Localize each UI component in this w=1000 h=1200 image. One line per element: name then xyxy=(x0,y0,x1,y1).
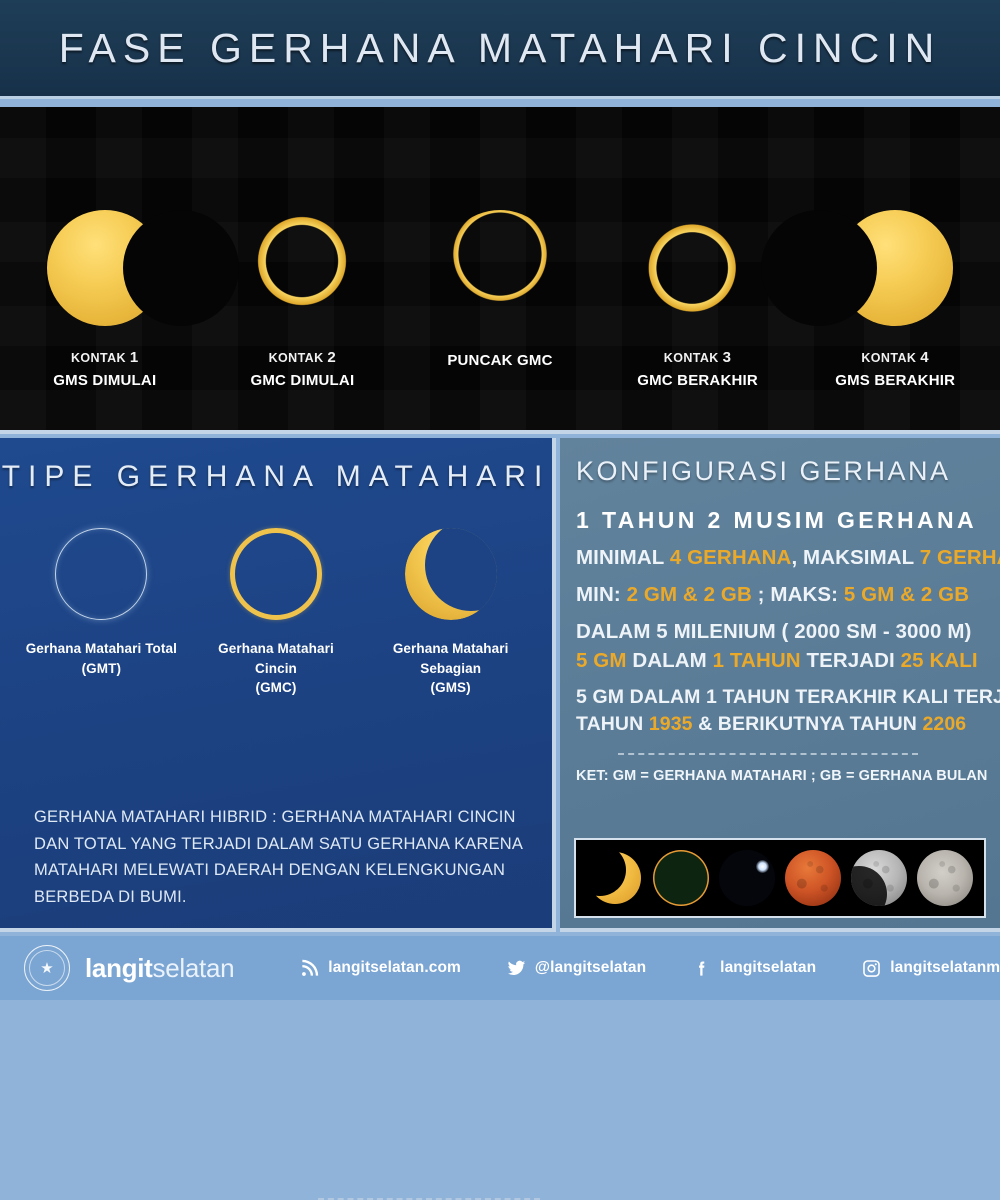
phase-name-4: GMC BERAKHIR xyxy=(637,371,758,391)
type-item-gmc: Gerhana Matahari Cincin (GMC) xyxy=(196,528,356,698)
maks-value: 5 GM & 2 GB xyxy=(844,583,969,606)
min-value: 2 GM & 2 GB xyxy=(627,583,752,606)
eclipse-types-title: TIPE GERHANA MATAHARI xyxy=(0,460,552,494)
line-minimal-maksimal: MINIMAL 4 GERHANA, MAKSIMAL 7 GERHANA xyxy=(576,545,986,571)
ring-even-icon xyxy=(442,210,558,326)
phase-contact-text-1: KONTAK xyxy=(71,351,126,365)
twitter-icon xyxy=(507,959,526,978)
tahun-prefix: TAHUN xyxy=(576,713,649,735)
corona-ring-icon xyxy=(55,528,147,620)
berikutnya-prefix: & BERIKUTNYA TAHUN xyxy=(693,713,923,735)
right-panel-divider xyxy=(618,753,918,755)
hybrid-eclipse-text: GERHANA MATAHARI HIBRID : GERHANA MATAHA… xyxy=(34,804,534,911)
type-label-gmc: Gerhana Matahari Cincin (GMC) xyxy=(196,639,356,698)
eclipse-configuration-panel: KONFIGURASI GERHANA 1 TAHUN 2 MUSIM GERH… xyxy=(560,438,1000,932)
fivegm-dalam: DALAM xyxy=(627,649,713,672)
eclipse-types-panel: TIPE GERHANA MATAHARI Gerhana Matahari T… xyxy=(0,438,556,932)
milenium-block: DALAM 5 MILENIUM ( 2000 SM - 3000 M) 5 G… xyxy=(576,619,986,673)
gerhana-matahari-total-photo xyxy=(719,850,775,906)
sun-bite-right-icon xyxy=(47,210,163,326)
phase-name-2: GMC DIMULAI xyxy=(250,371,354,391)
eclipse-phases-band: KONTAK 1 GMS DIMULAI KONTAK 2 GMC DIMULA… xyxy=(0,107,1000,434)
minimal-prefix: MINIMAL xyxy=(576,546,670,569)
line-milenium: DALAM 5 MILENIUM ( 2000 SM - 3000 M) xyxy=(576,619,986,645)
facebook-icon xyxy=(692,959,711,978)
min-prefix: MIN: xyxy=(576,583,627,606)
gold-ring-icon xyxy=(230,528,322,620)
fivegm-terjadi: TERJADI xyxy=(801,649,901,672)
phase-contact-number-1: 1 xyxy=(130,349,139,366)
phase-contact-text-5: KONTAK xyxy=(861,351,916,365)
instagram-icon xyxy=(862,959,881,978)
infographic-page: FASE GERHANA MATAHARI CINCIN KONTAK 1 GM… xyxy=(0,0,1000,1000)
configuration-headline: 1 TAHUN 2 MUSIM GERHANA xyxy=(576,507,986,534)
type-abbr-gms: (GMS) xyxy=(431,680,471,695)
rss-icon xyxy=(300,959,319,978)
page-title: FASE GERHANA MATAHARI CINCIN xyxy=(59,25,941,72)
social-facebook-label: langitselatan xyxy=(720,959,816,977)
type-name-gmc: Gerhana Matahari Cincin xyxy=(218,641,334,676)
seal-glyph: ★ xyxy=(40,961,53,976)
phase-name-1: GMS DIMULAI xyxy=(53,371,156,391)
type-item-gmt: Gerhana Matahari Total (GMT) xyxy=(21,528,181,678)
social-facebook[interactable]: langitselatan xyxy=(692,959,816,978)
phase-contact-text-2: KONTAK xyxy=(269,351,324,365)
crescent-icon xyxy=(405,528,497,620)
phase-name-5: GMS BERAKHIR xyxy=(835,371,955,391)
social-website[interactable]: langitselatan.com xyxy=(300,959,461,978)
type-abbr-gmc: (GMC) xyxy=(255,680,296,695)
fivegm-value: 5 GM xyxy=(576,649,627,672)
line-5gm-frequency: 5 GM DALAM 1 TAHUN TERJADI 25 KALI xyxy=(576,648,986,674)
type-label-gms: Gerhana Matahari Sebagian (GMS) xyxy=(371,639,531,698)
social-twitter[interactable]: @langitselatan xyxy=(507,959,646,978)
phase-label-4: KONTAK 3 GMC BERAKHIR xyxy=(637,348,758,392)
gerhana-matahari-cincin-photo xyxy=(653,850,709,906)
page-header: FASE GERHANA MATAHARI CINCIN xyxy=(0,0,1000,99)
phase-contact-number-5: 4 xyxy=(920,349,929,366)
phase-label-2: KONTAK 2 GMC DIMULAI xyxy=(250,348,354,392)
eclipse-types-row: Gerhana Matahari Total (GMT) Gerhana Mat… xyxy=(0,528,552,698)
configuration-title: KONFIGURASI GERHANA xyxy=(576,456,986,487)
minimal-value: 4 GERHANA xyxy=(670,546,792,569)
social-instagram[interactable]: langitselatanmedia xyxy=(862,959,1000,978)
phase-label-3: PUNCAK GMC xyxy=(447,348,552,371)
phase-label-1: KONTAK 1 GMS DIMULAI xyxy=(53,348,156,392)
type-item-gms: Gerhana Matahari Sebagian (GMS) xyxy=(371,528,531,698)
social-instagram-label: langitselatanmedia xyxy=(890,959,1000,977)
phase-contact-number-2: 2 xyxy=(327,349,336,366)
phase-item-3: PUNCAK GMC xyxy=(410,107,590,371)
brand-bold-text: langit xyxy=(85,953,153,983)
tahun-last: 1935 xyxy=(649,713,693,735)
terakhir-block: 5 GM DALAM 1 TAHUN TERAKHIR KALI TERJADI… xyxy=(576,685,986,737)
phase-item-2: KONTAK 2 GMC DIMULAI xyxy=(212,107,392,392)
brand-logo[interactable]: ★ langitselatan xyxy=(24,945,234,991)
langitselatan-seal-icon: ★ xyxy=(24,945,70,991)
legend-note: KET: GM = GERHANA MATAHARI ; GB = GERHAN… xyxy=(576,768,986,784)
type-label-gmt: Gerhana Matahari Total (GMT) xyxy=(26,639,177,678)
ring-bottom-thick-icon xyxy=(244,210,360,326)
gerhana-bulan-total-photo xyxy=(785,850,841,906)
fivegm-count: 25 KALI xyxy=(901,649,978,672)
brand-light-text: selatan xyxy=(153,953,235,983)
maksimal-value: 7 GERHANA xyxy=(920,546,1000,569)
phase-item-4: KONTAK 3 GMC BERAKHIR xyxy=(608,107,788,392)
gerhana-bulan-sebagian-photo xyxy=(851,850,907,906)
type-name-gmt: Gerhana Matahari Total xyxy=(26,641,177,656)
type-name-gms: Gerhana Matahari Sebagian xyxy=(393,641,509,676)
phase-item-1: KONTAK 1 GMS DIMULAI xyxy=(15,107,195,392)
phase-name-3: PUNCAK GMC xyxy=(447,351,552,371)
social-twitter-label: @langitselatan xyxy=(535,959,646,977)
eclipse-phases-row: KONTAK 1 GMS DIMULAI KONTAK 2 GMC DIMULA… xyxy=(0,107,1000,434)
line-terakhir-1: 5 GM DALAM 1 TAHUN TERAKHIR KALI TERJADI xyxy=(576,685,986,710)
tahun-next: 2206 xyxy=(922,713,966,735)
type-abbr-gmt: (GMT) xyxy=(82,661,121,676)
fivegm-period: 1 TAHUN xyxy=(713,649,801,672)
line-min-maks-gm-gb: MIN: 2 GM & 2 GB ; MAKS: 5 GM & 2 GB xyxy=(576,582,986,608)
maks-prefix: ; MAKS: xyxy=(752,583,844,606)
gerhana-bulan-penumbra-photo xyxy=(917,850,973,906)
line-terakhir-2: TAHUN 1935 & BERIKUTNYA TAHUN 2206 xyxy=(576,712,986,737)
phase-item-5: KONTAK 4 GMS BERAKHIR xyxy=(805,107,985,392)
eclipse-photo-strip xyxy=(574,838,986,918)
maksimal-prefix: , MAKSIMAL xyxy=(791,546,919,569)
gerhana-matahari-sebagian-photo xyxy=(587,850,643,906)
page-footer: ★ langitselatan langitselatan.com @langi… xyxy=(0,936,1000,1000)
sun-bite-left-icon xyxy=(837,210,953,326)
social-links: langitselatan.com @langitselatan langits… xyxy=(300,959,1000,978)
phase-contact-number-4: 3 xyxy=(723,349,732,366)
phase-label-5: KONTAK 4 GMS BERAKHIR xyxy=(835,348,955,392)
social-website-label: langitselatan.com xyxy=(328,959,461,977)
phase-contact-text-4: KONTAK xyxy=(664,351,719,365)
brand-wordmark: langitselatan xyxy=(85,953,234,984)
ring-right-thick-icon xyxy=(640,210,756,326)
